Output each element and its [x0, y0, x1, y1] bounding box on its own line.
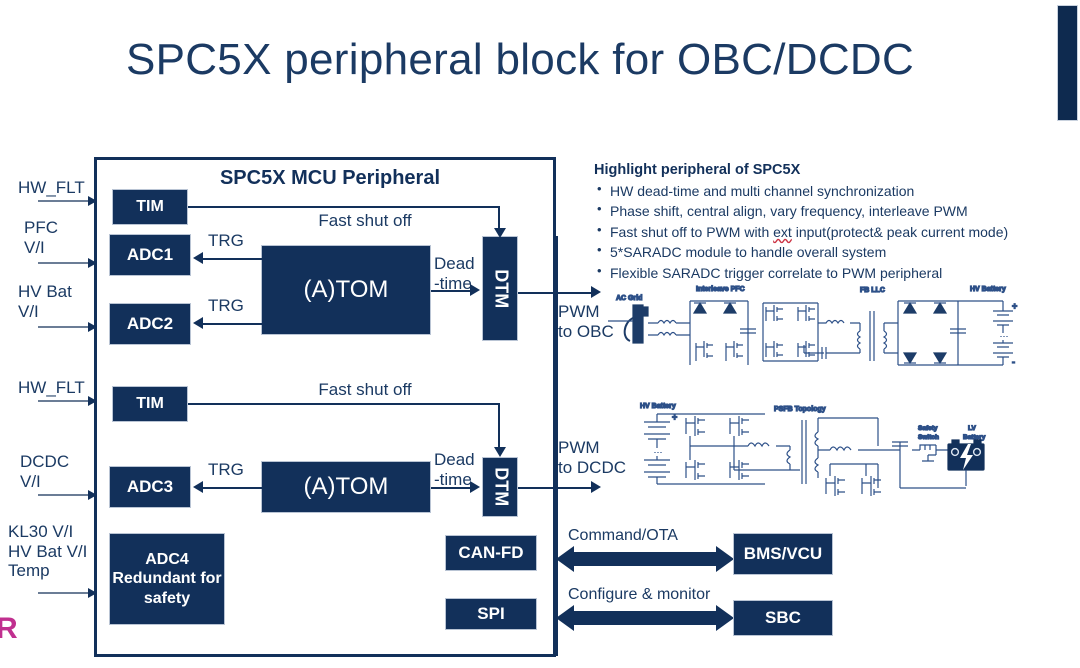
block-dtm-1-label: DTM: [489, 269, 511, 308]
dcdc-label-safety-switch-1: Safety: [918, 425, 938, 432]
input-label-dcdc: DCDC V/I: [20, 452, 69, 491]
label-configure-monitor: Configure & monitor: [568, 586, 710, 604]
accent-bar: [1057, 5, 1078, 121]
block-adc4[interactable]: ADC4 Redundant for safety: [109, 533, 225, 625]
bus-arrow-command-ota-shaft: [573, 552, 718, 566]
input-label-hw-flt-2: HW_FLT: [18, 378, 85, 398]
bus-arrow-configure-shaft: [573, 611, 718, 625]
dcdc-label-safety-switch-2: Switch: [918, 434, 939, 441]
input-label-pfc: PFC V/I: [24, 218, 58, 257]
label-trg-2: TRG: [208, 296, 244, 316]
dcdc-schematic: HV Battery PSFB Topology Safety Switch L…: [630, 398, 1030, 496]
bullet3-underlined: ext: [773, 224, 792, 240]
input-label-kl30: KL30 V/I HV Bat V/I Temp: [8, 522, 87, 581]
block-adc3[interactable]: ADC3: [109, 466, 191, 508]
block-dtm-2-label: DTM: [489, 468, 511, 507]
bus-arrow-configure-right-head: [716, 605, 734, 631]
block-tim-2[interactable]: TIM: [112, 386, 188, 422]
input-arrow-shaft-6: [38, 592, 90, 594]
dcdc-label-psfb: PSFB Topology: [774, 406, 826, 413]
input-arrow-head-2: [88, 258, 97, 268]
trg-line-3: [203, 487, 263, 489]
fast-shut-off-arrowhead-2: [494, 447, 506, 457]
obc-label-ac-grid: AC Grid: [616, 295, 642, 302]
pwm-dcdc-arrowhead: [591, 481, 601, 493]
obc-label-minus: -: [1012, 357, 1015, 367]
input-arrow-head-3: [88, 322, 97, 332]
highlight-bullet-4: 5*SARADC module to handle overall system: [594, 242, 1064, 262]
trg-arrowhead-1: [193, 252, 203, 264]
trg-stub-1: [261, 258, 263, 260]
block-adc2[interactable]: ADC2: [109, 303, 191, 345]
obc-label-plus: +: [1012, 301, 1017, 311]
input-arrow-shaft-4: [38, 400, 90, 402]
input-arrow-head-4: [88, 396, 97, 406]
bus-arrow-command-ota-left-head: [556, 546, 574, 572]
label-dead-time-2: Dead -time: [434, 450, 475, 489]
label-pwm-to-dcdc: PWM to DCDC: [558, 438, 626, 477]
trg-arrowhead-3: [193, 481, 203, 493]
pwm-obc-arrowhead: [591, 286, 601, 298]
input-label-hw-flt-1: HW_FLT: [18, 178, 85, 198]
obc-label-interleave-pfc: Interleave PFC: [696, 286, 745, 293]
label-command-ota: Command/OTA: [568, 527, 678, 545]
block-bms-vcu[interactable]: BMS/VCU: [733, 533, 833, 575]
page-title: SPC5X peripheral block for OBC/DCDC: [0, 36, 1040, 84]
highlight-heading: Highlight peripheral of SPC5X: [594, 162, 1064, 178]
fast-shut-off-arrowhead-1: [494, 228, 506, 238]
obc-schematic: AC Grid Interleave PFC FB LLC HV Battery: [608, 283, 1028, 383]
bus-arrow-command-ota-right-head: [716, 546, 734, 572]
label-fast-shut-off-1: Fast shut off: [285, 211, 445, 231]
fast-shut-off-line-1: [188, 206, 500, 208]
obc-label-fb-llc: FB LLC: [860, 287, 885, 294]
highlight-bullet-2: Phase shift, central align, vary frequen…: [594, 201, 1064, 221]
highlight-bullet-5: Flexible SARADC trigger correlate to PWM…: [594, 263, 1064, 283]
bullet3-before: Fast shut off to PWM with: [610, 224, 773, 240]
block-atom-1[interactable]: (A)TOM: [261, 245, 431, 335]
label-fast-shut-off-2: Fast shut off: [285, 380, 445, 400]
highlight-bullet-list: HW dead-time and multi channel synchroni…: [594, 181, 1064, 283]
label-dead-time-1: Dead -time: [434, 254, 475, 293]
fast-shut-off-line-2: [188, 403, 500, 405]
input-arrow-head-5: [88, 490, 97, 500]
input-arrow-shaft-5: [38, 494, 90, 496]
bus-arrow-command-ota: [556, 546, 736, 572]
fast-shut-off-drop-2: [498, 403, 500, 449]
input-arrow-head-6: [88, 588, 97, 598]
trg-arrowhead-2: [193, 317, 203, 329]
block-tim-1[interactable]: TIM: [112, 189, 188, 225]
input-label-hv-bat: HV Bat V/I: [18, 282, 72, 321]
block-sbc[interactable]: SBC: [733, 600, 833, 636]
trg-line-2: [203, 323, 263, 325]
input-arrow-shaft-1: [38, 200, 90, 202]
mcu-title: SPC5X MCU Peripheral: [120, 167, 540, 190]
label-pwm-to-obc: PWM to OBC: [558, 302, 614, 341]
input-arrow-shaft-3: [38, 326, 90, 328]
block-dtm-1[interactable]: DTM: [482, 236, 518, 341]
dcdc-label-lv-battery-1: LV: [968, 425, 976, 432]
corner-glyph: R: [0, 612, 18, 646]
block-atom-2[interactable]: (A)TOM: [261, 461, 431, 513]
bullet3-after: input(protect& peak current mode): [792, 224, 1008, 240]
pwm-obc-line: [518, 292, 593, 294]
highlight-panel: Highlight peripheral of SPC5X HW dead-ti…: [594, 162, 1064, 283]
fast-shut-off-drop-1: [498, 206, 500, 230]
obc-label-hv-battery: HV Battery: [970, 286, 1006, 293]
input-arrow-shaft-2: [38, 262, 90, 264]
bus-arrow-configure-left-head: [556, 605, 574, 631]
label-trg-3: TRG: [208, 460, 244, 480]
input-arrow-head-1: [88, 196, 97, 206]
block-can-fd[interactable]: CAN-FD: [445, 535, 537, 571]
label-trg-1: TRG: [208, 231, 244, 251]
dcdc-label-hv-battery: HV Battery: [640, 403, 676, 410]
block-spi[interactable]: SPI: [445, 598, 537, 630]
highlight-bullet-1: HW dead-time and multi channel synchroni…: [594, 181, 1064, 201]
pwm-dcdc-line: [518, 487, 593, 489]
highlight-bullet-3: Fast shut off to PWM with ext input(prot…: [594, 222, 1064, 242]
block-adc1[interactable]: ADC1: [109, 234, 191, 276]
trg-line-1: [203, 258, 263, 260]
bus-arrow-configure-monitor: [556, 605, 736, 631]
block-dtm-2[interactable]: DTM: [482, 457, 518, 517]
